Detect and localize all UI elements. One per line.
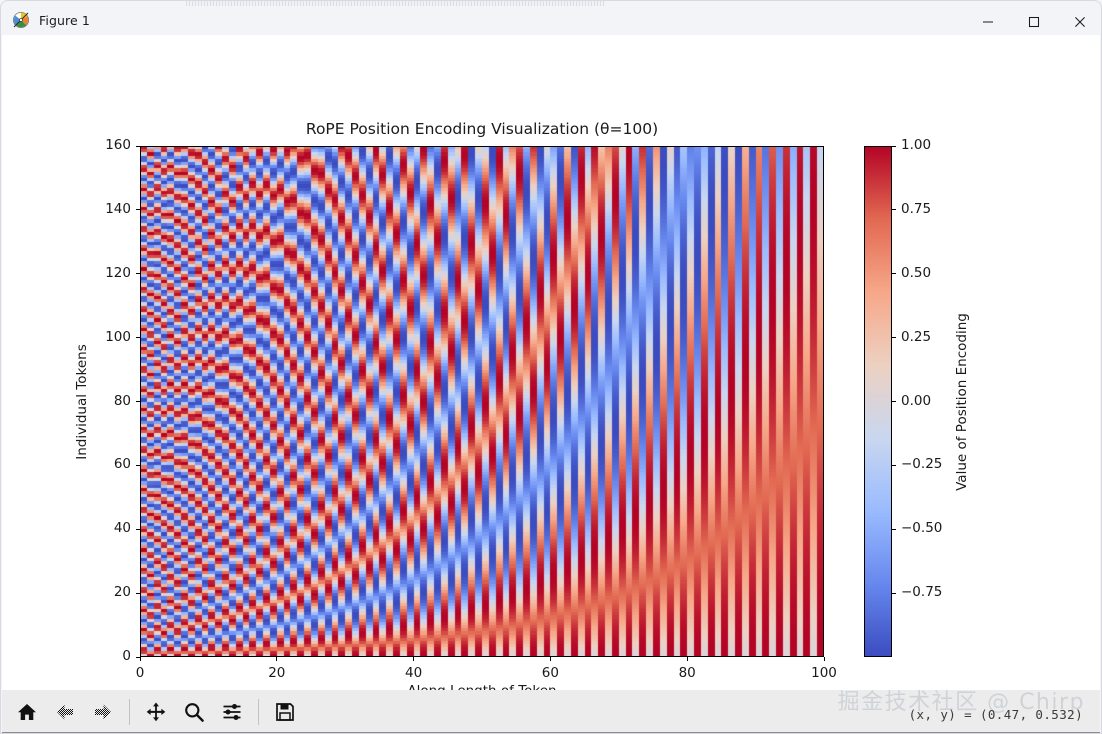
- x-tick-mark: [824, 657, 825, 661]
- close-button[interactable]: [1057, 5, 1102, 39]
- y-tick-mark: [136, 657, 140, 658]
- y-tick-label: 0: [78, 648, 131, 664]
- y-tick-mark: [136, 529, 140, 530]
- x-tick-mark: [276, 657, 277, 661]
- colorbar-tick-label: 0.50: [901, 265, 931, 281]
- subplots-button[interactable]: [215, 695, 249, 729]
- toolbar-separator: [129, 699, 130, 725]
- colorbar-tick-mark: [892, 593, 896, 594]
- y-tick-mark: [136, 465, 140, 466]
- chart-title: RoPE Position Encoding Visualization (θ=…: [140, 120, 824, 138]
- x-tick-mark: [550, 657, 551, 661]
- colorbar-frame: [864, 146, 892, 657]
- window-title-bar: Figure 1: [1, 5, 1102, 35]
- pan-button[interactable]: [139, 695, 173, 729]
- x-tick-label: 40: [390, 665, 438, 681]
- y-tick-label: 160: [78, 137, 131, 153]
- matplotlib-icon: [12, 11, 30, 29]
- colorbar-tick-label: 1.00: [901, 137, 931, 153]
- y-tick-label: 140: [78, 201, 131, 217]
- x-tick-mark: [687, 657, 688, 661]
- zoom-button[interactable]: [177, 695, 211, 729]
- y-tick-mark: [136, 593, 140, 594]
- y-tick-label: 20: [78, 584, 131, 600]
- colorbar-tick-label: −0.75: [901, 584, 942, 600]
- colorbar-tick-mark: [892, 465, 896, 466]
- x-tick-label: 80: [663, 665, 711, 681]
- x-tick-mark: [413, 657, 414, 661]
- x-tick-label: 60: [526, 665, 574, 681]
- window-title: Figure 1: [39, 13, 90, 28]
- y-tick-label: 40: [78, 520, 131, 536]
- colorbar-tick-mark: [892, 146, 896, 147]
- y-tick-mark: [136, 209, 140, 210]
- figure-window: Figure 1 RoPE Position Encoding Visualiz…: [0, 0, 1102, 734]
- figure-client-area: RoPE Position Encoding Visualization (θ=…: [2, 35, 1100, 690]
- y-tick-label: 120: [78, 265, 131, 281]
- home-button[interactable]: [10, 695, 44, 729]
- maximize-button[interactable]: [1011, 5, 1057, 39]
- toolbar-separator-2: [258, 699, 259, 725]
- colorbar-tick-label: −0.50: [901, 520, 942, 536]
- colorbar-tick-label: 0.75: [901, 201, 931, 217]
- x-tick-label: 20: [253, 665, 301, 681]
- forward-button[interactable]: [86, 695, 120, 729]
- colorbar-tick-mark: [892, 209, 896, 210]
- heatmap-plot[interactable]: [140, 146, 824, 657]
- y-tick-label: 100: [78, 329, 131, 345]
- coordinate-readout: (x, y) = (0.47, 0.532): [909, 707, 1083, 722]
- back-button[interactable]: [48, 695, 82, 729]
- colorbar-tick-mark: [892, 337, 896, 338]
- minimize-button[interactable]: [965, 5, 1011, 39]
- matplotlib-figure[interactable]: RoPE Position Encoding Visualization (θ=…: [2, 35, 1100, 690]
- y-tick-mark: [136, 337, 140, 338]
- y-tick-mark: [136, 401, 140, 402]
- x-tick-mark: [140, 657, 141, 661]
- window-controls: [965, 5, 1102, 39]
- colorbar-tick-label: −0.25: [901, 456, 942, 472]
- y-tick-mark: [136, 273, 140, 274]
- colorbar-tick-mark: [892, 529, 896, 530]
- colorbar-label: Value of Position Encoding: [954, 313, 970, 491]
- x-tick-label: 100: [800, 665, 848, 681]
- colorbar-tick-mark: [892, 401, 896, 402]
- y-tick-mark: [136, 146, 140, 147]
- colorbar-tick-mark: [892, 273, 896, 274]
- colorbar-tick-label: 0.25: [901, 329, 931, 345]
- x-tick-label: 0: [116, 665, 164, 681]
- y-axis-label: Individual Tokens: [74, 344, 90, 459]
- save-button[interactable]: [268, 695, 302, 729]
- colorbar-tick-label: 0.00: [901, 393, 931, 409]
